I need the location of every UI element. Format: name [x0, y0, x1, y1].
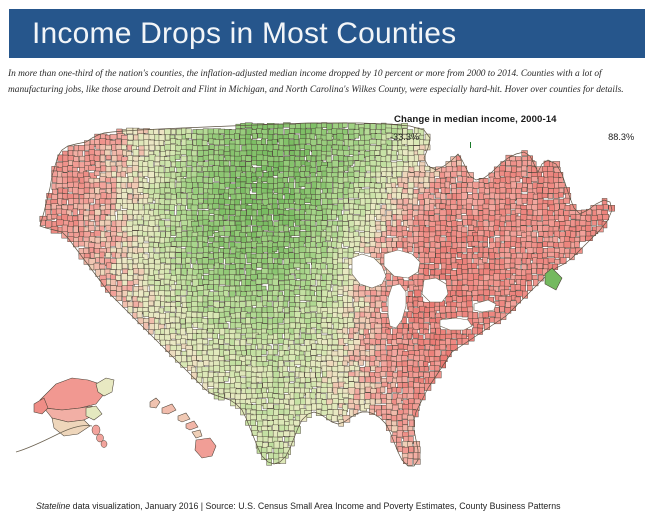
- county-polygon[interactable]: [532, 225, 537, 230]
- county-polygon[interactable]: [387, 389, 392, 394]
- county-polygon[interactable]: [89, 198, 94, 203]
- county-polygon[interactable]: [467, 301, 472, 308]
- county-polygon[interactable]: [343, 269, 350, 275]
- county-polygon[interactable]: [236, 360, 242, 365]
- county-polygon[interactable]: [547, 252, 554, 257]
- county-polygon[interactable]: [348, 123, 355, 129]
- county-polygon[interactable]: [564, 241, 571, 247]
- county-polygon[interactable]: [273, 318, 279, 324]
- county-polygon[interactable]: [348, 350, 353, 355]
- county-polygon[interactable]: [301, 360, 306, 366]
- county-polygon[interactable]: [403, 156, 408, 162]
- county-polygon[interactable]: [359, 177, 364, 182]
- county-polygon[interactable]: [527, 281, 532, 286]
- county-polygon[interactable]: [236, 225, 241, 231]
- county-polygon[interactable]: [321, 388, 328, 393]
- county-polygon[interactable]: [283, 171, 288, 177]
- county-polygon[interactable]: [403, 425, 408, 431]
- county-polygon[interactable]: [306, 405, 312, 411]
- county-polygon[interactable]: [338, 350, 344, 356]
- county-polygon[interactable]: [127, 183, 132, 188]
- county-polygon[interactable]: [62, 199, 67, 204]
- county-polygon[interactable]: [451, 178, 456, 183]
- county-polygon[interactable]: [409, 177, 415, 183]
- county-polygon[interactable]: [67, 226, 73, 232]
- county-polygon[interactable]: [359, 291, 366, 297]
- county-polygon[interactable]: [375, 360, 380, 366]
- county-polygon[interactable]: [213, 296, 219, 301]
- county-polygon[interactable]: [79, 162, 85, 168]
- county-polygon[interactable]: [284, 307, 289, 312]
- county-polygon[interactable]: [359, 360, 364, 365]
- county-polygon[interactable]: [193, 323, 198, 328]
- county-polygon[interactable]: [338, 345, 344, 350]
- county-polygon[interactable]: [213, 248, 219, 253]
- county-polygon[interactable]: [240, 264, 245, 269]
- county-polygon[interactable]: [181, 280, 186, 286]
- county-polygon[interactable]: [171, 231, 176, 236]
- county-polygon[interactable]: [284, 242, 289, 247]
- county-polygon[interactable]: [224, 215, 229, 220]
- county-polygon[interactable]: [294, 167, 299, 173]
- county-polygon[interactable]: [353, 328, 358, 333]
- county-polygon[interactable]: [418, 279, 423, 286]
- county-polygon[interactable]: [240, 269, 245, 274]
- county-polygon[interactable]: [148, 247, 153, 253]
- county-polygon[interactable]: [457, 274, 462, 279]
- county-polygon[interactable]: [138, 236, 144, 243]
- county-polygon[interactable]: [290, 145, 297, 150]
- county-polygon[interactable]: [408, 182, 414, 188]
- county-polygon[interactable]: [208, 264, 214, 269]
- county-polygon[interactable]: [343, 214, 349, 221]
- county-polygon[interactable]: [268, 161, 274, 167]
- county-polygon[interactable]: [192, 210, 197, 215]
- county-polygon[interactable]: [315, 274, 321, 280]
- county-polygon[interactable]: [164, 200, 170, 205]
- county-polygon[interactable]: [321, 155, 326, 160]
- county-polygon[interactable]: [353, 193, 358, 198]
- county-polygon[interactable]: [591, 216, 598, 221]
- county-polygon[interactable]: [112, 171, 117, 176]
- county-polygon[interactable]: [424, 339, 430, 344]
- county-polygon[interactable]: [559, 183, 566, 188]
- county-polygon[interactable]: [305, 378, 310, 383]
- county-polygon[interactable]: [121, 177, 128, 182]
- county-polygon[interactable]: [580, 236, 585, 241]
- county-polygon[interactable]: [376, 242, 382, 247]
- county-polygon[interactable]: [413, 333, 419, 338]
- county-polygon[interactable]: [186, 145, 193, 150]
- county-polygon[interactable]: [424, 367, 429, 372]
- hawaii-county[interactable]: [192, 430, 202, 438]
- county-polygon[interactable]: [127, 275, 133, 281]
- county-polygon[interactable]: [408, 366, 413, 372]
- county-polygon[interactable]: [235, 237, 241, 242]
- county-polygon[interactable]: [354, 204, 360, 209]
- county-polygon[interactable]: [391, 383, 396, 388]
- county-polygon[interactable]: [267, 403, 273, 408]
- county-polygon[interactable]: [321, 193, 326, 199]
- county-polygon[interactable]: [391, 415, 397, 421]
- county-polygon[interactable]: [445, 253, 450, 258]
- county-polygon[interactable]: [284, 258, 289, 264]
- county-polygon[interactable]: [219, 279, 225, 284]
- county-polygon[interactable]: [500, 222, 505, 227]
- county-polygon[interactable]: [176, 350, 181, 355]
- county-polygon[interactable]: [214, 366, 220, 372]
- county-polygon[interactable]: [548, 258, 555, 263]
- county-polygon[interactable]: [225, 279, 230, 285]
- county-polygon[interactable]: [555, 259, 560, 264]
- county-polygon[interactable]: [510, 263, 515, 268]
- county-polygon[interactable]: [397, 371, 402, 378]
- county-polygon[interactable]: [418, 194, 424, 200]
- county-polygon[interactable]: [279, 394, 284, 399]
- county-polygon[interactable]: [348, 296, 353, 302]
- county-polygon[interactable]: [364, 144, 370, 150]
- county-polygon[interactable]: [478, 230, 484, 235]
- county-polygon[interactable]: [387, 281, 393, 286]
- county-polygon[interactable]: [323, 215, 328, 221]
- county-polygon[interactable]: [446, 258, 451, 265]
- county-polygon[interactable]: [193, 200, 199, 206]
- county-polygon[interactable]: [240, 371, 246, 376]
- county-polygon[interactable]: [273, 215, 280, 220]
- county-polygon[interactable]: [115, 236, 122, 242]
- county-polygon[interactable]: [511, 301, 517, 307]
- county-polygon[interactable]: [246, 194, 251, 199]
- county-polygon[interactable]: [235, 377, 240, 383]
- county-polygon[interactable]: [462, 232, 467, 237]
- county-polygon[interactable]: [436, 313, 441, 318]
- county-polygon[interactable]: [176, 188, 181, 194]
- county-polygon[interactable]: [386, 404, 393, 410]
- county-polygon[interactable]: [380, 394, 386, 399]
- county-polygon[interactable]: [165, 161, 170, 168]
- county-polygon[interactable]: [559, 247, 565, 254]
- county-polygon[interactable]: [305, 171, 310, 176]
- county-polygon[interactable]: [321, 269, 328, 274]
- county-polygon[interactable]: [386, 409, 391, 414]
- county-polygon[interactable]: [240, 161, 246, 166]
- county-polygon[interactable]: [247, 252, 252, 258]
- county-polygon[interactable]: [338, 203, 343, 210]
- county-polygon[interactable]: [310, 372, 315, 378]
- county-polygon[interactable]: [219, 150, 224, 155]
- county-polygon[interactable]: [100, 150, 105, 155]
- county-polygon[interactable]: [219, 296, 224, 301]
- county-polygon[interactable]: [122, 280, 128, 286]
- county-polygon[interactable]: [262, 356, 267, 361]
- county-polygon[interactable]: [180, 328, 185, 335]
- county-polygon[interactable]: [370, 139, 377, 144]
- county-polygon[interactable]: [240, 139, 246, 145]
- county-polygon[interactable]: [343, 123, 348, 128]
- county-polygon[interactable]: [251, 383, 257, 388]
- county-polygon[interactable]: [332, 225, 337, 232]
- county-polygon[interactable]: [229, 236, 234, 241]
- county-polygon[interactable]: [299, 339, 304, 344]
- county-polygon[interactable]: [436, 231, 441, 236]
- county-polygon[interactable]: [267, 339, 272, 344]
- county-polygon[interactable]: [284, 296, 289, 301]
- county-polygon[interactable]: [78, 145, 84, 150]
- hawaii-county[interactable]: [150, 398, 160, 408]
- county-polygon[interactable]: [408, 188, 413, 194]
- county-polygon[interactable]: [45, 204, 50, 209]
- county-polygon[interactable]: [500, 306, 505, 312]
- county-polygon[interactable]: [148, 172, 154, 178]
- county-polygon[interactable]: [521, 171, 527, 176]
- county-polygon[interactable]: [251, 415, 257, 420]
- alaska-island[interactable]: [101, 441, 107, 448]
- county-polygon[interactable]: [542, 253, 547, 258]
- county-polygon[interactable]: [256, 171, 262, 177]
- county-polygon[interactable]: [230, 221, 235, 226]
- county-polygon[interactable]: [268, 209, 274, 214]
- county-polygon[interactable]: [462, 183, 467, 188]
- county-polygon[interactable]: [240, 296, 245, 301]
- county-polygon[interactable]: [268, 285, 273, 290]
- county-polygon[interactable]: [155, 183, 160, 189]
- county-polygon[interactable]: [181, 339, 186, 344]
- county-polygon[interactable]: [380, 372, 386, 377]
- county-polygon[interactable]: [466, 204, 471, 210]
- county-polygon[interactable]: [397, 339, 403, 344]
- county-polygon[interactable]: [353, 155, 359, 160]
- county-polygon[interactable]: [531, 177, 537, 182]
- county-polygon[interactable]: [402, 356, 408, 361]
- county-polygon[interactable]: [542, 193, 548, 198]
- county-polygon[interactable]: [527, 285, 532, 290]
- county-polygon[interactable]: [121, 253, 126, 258]
- county-polygon[interactable]: [258, 393, 263, 398]
- county-polygon[interactable]: [468, 312, 473, 319]
- county-polygon[interactable]: [317, 296, 322, 301]
- county-polygon[interactable]: [413, 220, 419, 225]
- county-polygon[interactable]: [348, 399, 354, 404]
- county-polygon[interactable]: [116, 183, 121, 189]
- county-polygon[interactable]: [451, 236, 456, 243]
- county-polygon[interactable]: [451, 345, 458, 351]
- county-polygon[interactable]: [386, 274, 391, 280]
- county-polygon[interactable]: [353, 210, 360, 215]
- county-polygon[interactable]: [181, 362, 188, 367]
- county-polygon[interactable]: [429, 237, 435, 242]
- county-polygon[interactable]: [511, 182, 517, 189]
- county-polygon[interactable]: [468, 225, 474, 230]
- hawaii-county[interactable]: [186, 421, 198, 430]
- county-polygon[interactable]: [371, 172, 376, 177]
- county-polygon[interactable]: [316, 189, 321, 195]
- county-polygon[interactable]: [234, 280, 239, 285]
- county-polygon[interactable]: [149, 178, 155, 184]
- county-polygon[interactable]: [483, 285, 488, 290]
- county-polygon[interactable]: [256, 377, 263, 382]
- county-polygon[interactable]: [434, 264, 439, 269]
- county-polygon[interactable]: [176, 285, 182, 290]
- county-polygon[interactable]: [122, 257, 127, 263]
- county-polygon[interactable]: [245, 286, 251, 291]
- county-polygon[interactable]: [202, 140, 207, 145]
- county-polygon[interactable]: [500, 187, 506, 193]
- county-polygon[interactable]: [278, 333, 283, 338]
- county-polygon[interactable]: [430, 328, 435, 333]
- county-polygon[interactable]: [235, 144, 240, 151]
- county-polygon[interactable]: [462, 269, 468, 274]
- county-polygon[interactable]: [537, 243, 542, 248]
- county-polygon[interactable]: [382, 399, 387, 404]
- county-polygon[interactable]: [213, 140, 219, 145]
- county-polygon[interactable]: [272, 253, 279, 258]
- county-polygon[interactable]: [272, 247, 277, 252]
- county-polygon[interactable]: [456, 291, 462, 297]
- us-county-map-svg[interactable]: [0, 108, 659, 493]
- county-polygon[interactable]: [294, 248, 299, 254]
- county-polygon[interactable]: [262, 290, 267, 296]
- county-polygon[interactable]: [203, 302, 208, 307]
- county-polygon[interactable]: [462, 296, 467, 302]
- county-polygon[interactable]: [273, 371, 280, 378]
- county-polygon[interactable]: [457, 171, 462, 176]
- county-polygon[interactable]: [407, 334, 412, 339]
- county-polygon[interactable]: [186, 188, 192, 193]
- county-polygon[interactable]: [461, 209, 466, 214]
- county-polygon[interactable]: [252, 210, 257, 217]
- county-polygon[interactable]: [359, 376, 364, 382]
- county-polygon[interactable]: [429, 177, 434, 182]
- county-polygon[interactable]: [490, 263, 495, 269]
- county-polygon[interactable]: [180, 161, 186, 167]
- county-polygon[interactable]: [257, 366, 264, 372]
- county-polygon[interactable]: [359, 183, 365, 188]
- county-polygon[interactable]: [419, 268, 424, 273]
- county-polygon[interactable]: [89, 166, 96, 171]
- county-polygon[interactable]: [364, 194, 370, 199]
- county-polygon[interactable]: [526, 274, 532, 280]
- county-polygon[interactable]: [526, 236, 531, 241]
- county-polygon[interactable]: [289, 340, 294, 345]
- county-polygon[interactable]: [603, 205, 608, 210]
- county-polygon[interactable]: [234, 156, 241, 161]
- county-polygon[interactable]: [127, 236, 132, 241]
- county-polygon[interactable]: [170, 156, 176, 162]
- county-polygon[interactable]: [261, 399, 266, 404]
- county-polygon[interactable]: [299, 393, 304, 398]
- county-polygon[interactable]: [197, 177, 203, 183]
- county-polygon[interactable]: [230, 178, 235, 183]
- county-polygon[interactable]: [310, 252, 316, 258]
- county-polygon[interactable]: [245, 360, 250, 365]
- county-polygon[interactable]: [95, 210, 101, 216]
- county-polygon[interactable]: [429, 221, 435, 226]
- county-polygon[interactable]: [133, 268, 138, 274]
- county-polygon[interactable]: [441, 194, 446, 200]
- county-polygon[interactable]: [263, 437, 269, 442]
- county-polygon[interactable]: [429, 227, 436, 233]
- county-polygon[interactable]: [446, 210, 451, 215]
- county-polygon[interactable]: [407, 232, 412, 237]
- county-polygon[interactable]: [592, 220, 597, 225]
- county-polygon[interactable]: [571, 214, 576, 219]
- county-polygon[interactable]: [391, 231, 397, 236]
- county-polygon[interactable]: [391, 155, 397, 160]
- county-polygon[interactable]: [213, 204, 219, 209]
- county-polygon[interactable]: [273, 349, 278, 354]
- county-polygon[interactable]: [537, 216, 542, 221]
- county-polygon[interactable]: [267, 447, 272, 453]
- county-polygon[interactable]: [267, 409, 274, 416]
- county-polygon[interactable]: [348, 214, 353, 220]
- county-polygon[interactable]: [354, 133, 359, 138]
- county-polygon[interactable]: [83, 172, 89, 177]
- county-polygon[interactable]: [143, 198, 148, 204]
- county-polygon[interactable]: [407, 247, 412, 252]
- county-polygon[interactable]: [359, 128, 364, 135]
- county-polygon[interactable]: [343, 150, 349, 155]
- county-polygon[interactable]: [446, 307, 451, 313]
- county-polygon[interactable]: [268, 312, 275, 317]
- county-polygon[interactable]: [198, 307, 204, 312]
- county-polygon[interactable]: [391, 199, 397, 204]
- county-polygon[interactable]: [197, 248, 203, 253]
- county-polygon[interactable]: [261, 139, 266, 144]
- county-polygon[interactable]: [391, 366, 396, 371]
- county-polygon[interactable]: [294, 382, 299, 387]
- county-polygon[interactable]: [219, 388, 224, 394]
- county-polygon[interactable]: [207, 285, 213, 290]
- county-polygon[interactable]: [305, 351, 310, 357]
- county-polygon[interactable]: [166, 227, 171, 232]
- county-polygon[interactable]: [408, 220, 414, 226]
- county-polygon[interactable]: [414, 290, 421, 297]
- county-polygon[interactable]: [542, 210, 548, 216]
- county-polygon[interactable]: [355, 405, 360, 410]
- county-polygon[interactable]: [224, 323, 229, 328]
- county-polygon[interactable]: [198, 198, 203, 203]
- county-polygon[interactable]: [257, 344, 262, 349]
- county-polygon[interactable]: [484, 290, 490, 296]
- county-polygon[interactable]: [300, 150, 305, 156]
- county-polygon[interactable]: [316, 236, 321, 243]
- county-polygon[interactable]: [467, 253, 472, 259]
- county-polygon[interactable]: [267, 177, 274, 183]
- county-polygon[interactable]: [370, 290, 376, 295]
- county-polygon[interactable]: [461, 307, 467, 312]
- county-polygon[interactable]: [128, 215, 133, 220]
- county-polygon[interactable]: [213, 339, 218, 344]
- county-polygon[interactable]: [203, 129, 208, 135]
- county-polygon[interactable]: [478, 205, 483, 210]
- county-polygon[interactable]: [258, 133, 263, 138]
- county-polygon[interactable]: [441, 269, 446, 274]
- county-polygon[interactable]: [333, 177, 338, 183]
- county-polygon[interactable]: [326, 182, 332, 188]
- county-polygon[interactable]: [294, 360, 301, 365]
- county-polygon[interactable]: [252, 226, 257, 231]
- county-polygon[interactable]: [278, 274, 284, 280]
- county-polygon[interactable]: [520, 220, 526, 225]
- county-polygon[interactable]: [246, 156, 252, 161]
- county-polygon[interactable]: [84, 227, 89, 232]
- county-polygon[interactable]: [268, 377, 274, 383]
- county-polygon[interactable]: [440, 237, 445, 242]
- county-polygon[interactable]: [257, 263, 262, 268]
- county-polygon[interactable]: [133, 150, 139, 156]
- county-polygon[interactable]: [235, 323, 242, 328]
- county-polygon[interactable]: [526, 220, 531, 226]
